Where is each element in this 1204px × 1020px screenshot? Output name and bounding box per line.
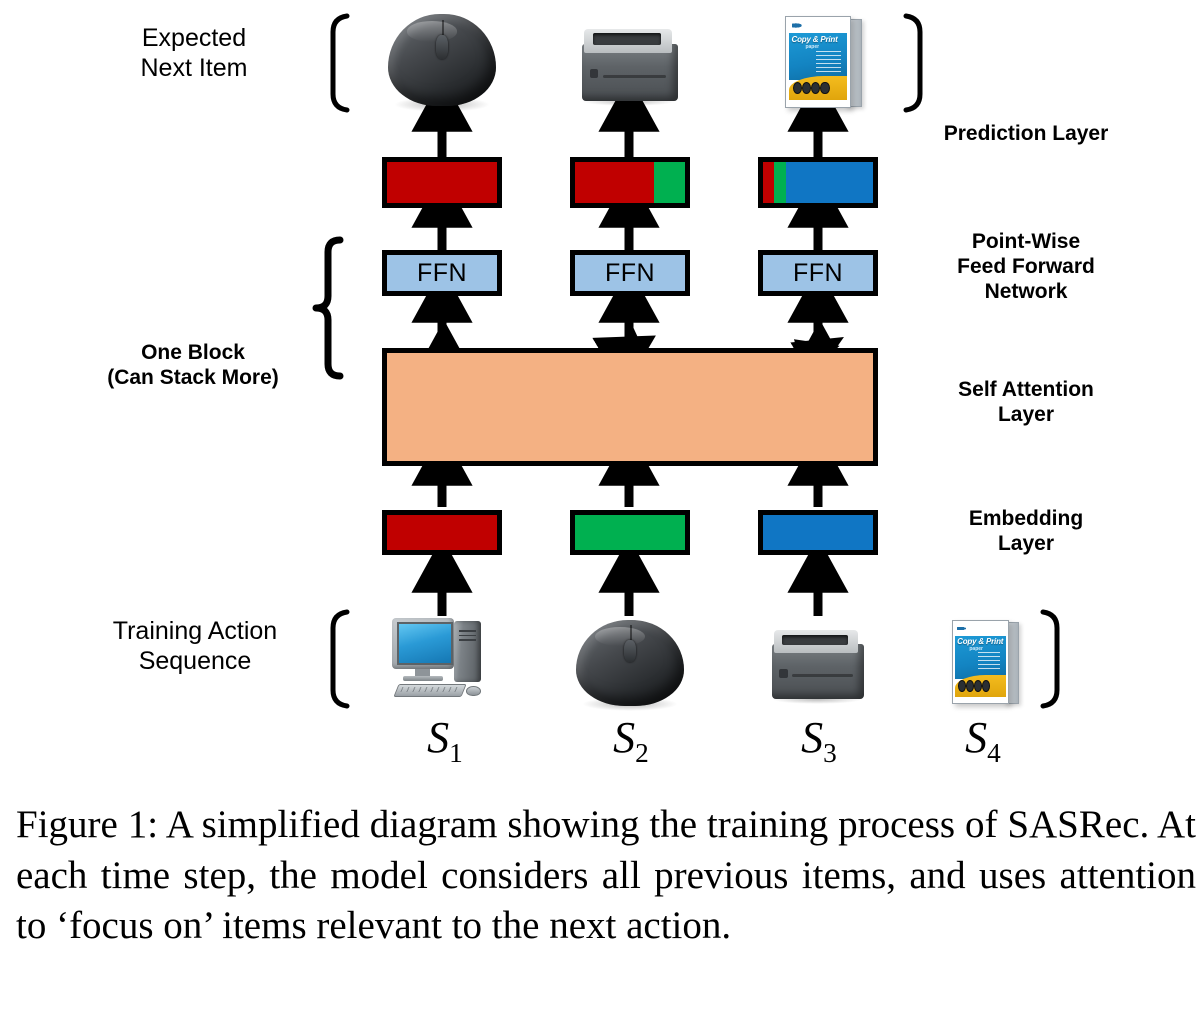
- embedding-bar-3-segment-blue: [763, 515, 873, 550]
- sequence-label-s3-index: 3: [823, 738, 837, 768]
- printer-control-panel: [590, 69, 599, 78]
- expected-item-paper: Copy & Print paper: [772, 14, 868, 110]
- paper-icon-dots: [958, 680, 990, 692]
- printer-output-tray: [792, 674, 853, 677]
- label-one-block: One Block (Can Stack More): [58, 341, 328, 391]
- label-self-attention-layer: Self Attention Layer: [896, 378, 1156, 428]
- sequence-label-s1: S1: [400, 712, 490, 769]
- prediction-bar-2-segment-red: [575, 162, 654, 203]
- paper-ream-front: Copy & Print paper: [952, 620, 1009, 705]
- embedding-bar-3: [758, 510, 878, 555]
- ffn-box-2: FFN: [570, 250, 690, 296]
- mouse-body: [576, 620, 684, 706]
- paper-icon-dots: [793, 82, 830, 95]
- printer-paper-slot: [782, 635, 848, 646]
- paper-ream-front: Copy & Print paper: [785, 16, 850, 108]
- paper-subtitle-text: paper: [805, 44, 819, 50]
- prediction-bar-3-segment-green: [774, 162, 786, 203]
- sequence-item-printer: [768, 618, 868, 706]
- computer-tower: [454, 621, 482, 682]
- sequence-bracket-left: [333, 612, 347, 706]
- mouse-gloss: [595, 627, 645, 646]
- figure-diagram: Expected Next Item One Block (Can Stack …: [0, 0, 1204, 790]
- prediction-bar-1: [382, 157, 502, 208]
- monitor-foot: [403, 676, 443, 681]
- sequence-label-s4-index: 4: [987, 738, 1001, 768]
- prediction-bar-3-segment-red: [763, 162, 774, 203]
- paper-subtitle-text: paper: [969, 646, 983, 652]
- sequence-item-mouse: [576, 620, 684, 706]
- figure-caption: Figure 1: A simplified diagram showing t…: [16, 800, 1196, 952]
- sequence-item-desktop-computer: [390, 612, 496, 704]
- label-training-action-sequence: Training Action Sequence: [70, 617, 320, 676]
- ffn-box-1-label: FFN: [417, 259, 467, 288]
- embedding-bar-2-segment-green: [575, 515, 685, 550]
- prediction-bar-3: [758, 157, 878, 208]
- prediction-bar-2-segment-green: [654, 162, 685, 203]
- label-prediction-layer: Prediction Layer: [896, 122, 1156, 147]
- prediction-bar-3-segment-blue: [786, 162, 873, 203]
- sequence-bracket-right: [1043, 612, 1057, 706]
- paper-text-lines: [978, 652, 1000, 672]
- paper-title-text: Copy & Print: [792, 36, 845, 44]
- desk-mouse: [466, 686, 481, 696]
- embedding-bar-1: [382, 510, 502, 555]
- printer-paper-slot: [593, 33, 662, 44]
- ffn-box-2-label: FFN: [605, 259, 655, 288]
- ffn-box-3-label: FFN: [793, 259, 843, 288]
- paper-brand-logo-icon: [957, 626, 969, 632]
- label-embedding-layer: Embedding Layer: [896, 507, 1156, 557]
- sequence-label-s4: S4: [938, 712, 1028, 769]
- embedding-bar-1-segment-red: [387, 515, 497, 550]
- sequence-label-s1-index: 1: [449, 738, 463, 768]
- expected-item-mouse: [388, 14, 496, 106]
- printer-control-panel: [779, 669, 787, 678]
- self-attention-box: [382, 348, 878, 466]
- expected-bracket-left: [333, 16, 347, 110]
- expected-bracket-right: [906, 16, 920, 110]
- sequence-label-s2-index: 2: [635, 738, 649, 768]
- paper-text-lines: [816, 51, 841, 73]
- mouse-gloss: [407, 21, 457, 41]
- ffn-box-3: FFN: [758, 250, 878, 296]
- sequence-item-paper: Copy & Print paper: [940, 618, 1024, 706]
- label-expected-next-item: Expected Next Item: [78, 24, 310, 83]
- monitor-bezel: [392, 618, 453, 670]
- expected-item-printer: [578, 16, 682, 108]
- prediction-bar-2: [570, 157, 690, 208]
- label-point-wise-feed-forward-network: Point-Wise Feed Forward Network: [896, 230, 1156, 304]
- sequence-label-s3: S3: [774, 712, 864, 769]
- paper-brand-logo-icon: [792, 22, 806, 28]
- embedding-bar-2: [570, 510, 690, 555]
- keyboard: [394, 684, 467, 697]
- monitor-screen: [397, 622, 453, 665]
- mouse-scroll-wheel: [624, 640, 637, 662]
- sequence-label-s2: S2: [586, 712, 676, 769]
- ffn-box-1: FFN: [382, 250, 502, 296]
- mouse-body: [388, 14, 496, 106]
- mouse-scroll-wheel: [436, 35, 449, 59]
- printer-output-tray: [603, 75, 666, 78]
- prediction-bar-1-segment-red: [387, 162, 497, 203]
